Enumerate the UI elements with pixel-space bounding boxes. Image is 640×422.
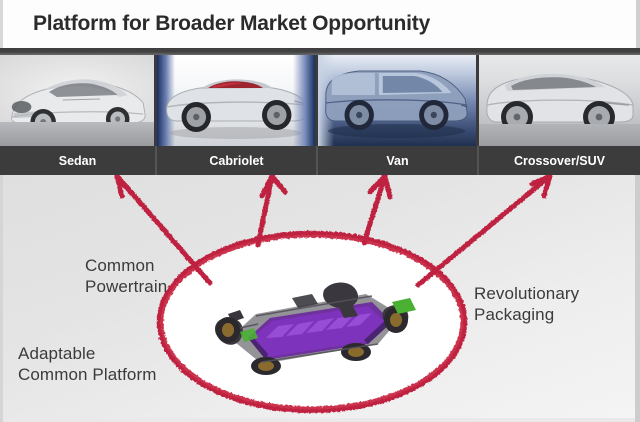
diagram-canvas: Common Powertrain Adaptable Common Platf…: [0, 175, 640, 422]
vehicle-photo-sedan[interactable]: [0, 55, 157, 146]
van-photo: [318, 55, 476, 146]
crossover-suv-illustration: [479, 55, 640, 146]
crossover-suv-photo: [479, 55, 640, 146]
vehicle-label-cabriolet[interactable]: Cabriolet: [157, 146, 318, 175]
annotation-adaptable-common-platform: Adaptable Common Platform: [18, 343, 156, 385]
slide: Platform for Broader Market Opportunity: [0, 0, 640, 422]
sedan-photo: [0, 55, 154, 146]
vehicle-label-band: Sedan Cabriolet Van Crossover/SUV: [0, 146, 640, 175]
sedan-illustration: [0, 55, 154, 146]
vehicle-label-crossover-suv[interactable]: Crossover/SUV: [479, 146, 640, 175]
arrow-to-crossover-suv: [418, 176, 550, 285]
vehicle-label-sedan[interactable]: Sedan: [0, 146, 157, 175]
diagram-art-layer: Common Powertrain Adaptable Common Platf…: [0, 175, 640, 422]
title-divider: [0, 48, 640, 55]
vehicle-photo-cabriolet[interactable]: [157, 55, 318, 146]
annotation-common-powertrain: Common Powertrain: [85, 255, 167, 297]
annotation-revolutionary-packaging: Revolutionary Packaging: [474, 283, 579, 325]
vehicle-photo-van[interactable]: [318, 55, 479, 146]
cabriolet-illustration: [157, 55, 315, 146]
chassis-illustration: [196, 268, 428, 380]
vehicle-label-van[interactable]: Van: [318, 146, 479, 175]
cabriolet-photo: [157, 55, 315, 146]
title-bar: Platform for Broader Market Opportunity: [0, 0, 640, 48]
van-illustration: [318, 55, 476, 146]
vehicle-photo-strip: [0, 55, 640, 146]
page-title: Platform for Broader Market Opportunity: [33, 12, 430, 36]
vehicle-photo-crossover-suv[interactable]: [479, 55, 640, 146]
skateboard-chassis: [196, 268, 428, 380]
